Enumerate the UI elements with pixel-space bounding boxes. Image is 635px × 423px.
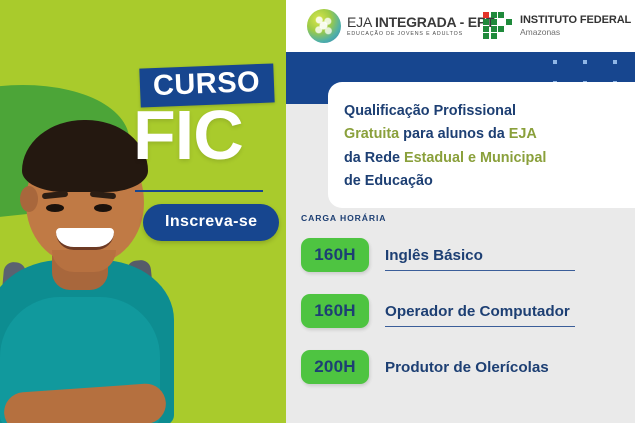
carga-horaria-label: CARGA HORÁRIA — [301, 213, 386, 223]
fic-acronym: FIC — [133, 102, 243, 169]
if-logo-text: INSTITUTO FEDERAL Amazonas — [520, 15, 631, 36]
pixel — [491, 26, 497, 32]
ear — [20, 186, 38, 212]
course-hours-badge: 160H — [301, 294, 369, 328]
desc-line-2: para alunos da — [399, 126, 509, 142]
pixel — [491, 12, 497, 18]
pixel — [498, 12, 504, 18]
eye-right — [94, 204, 112, 212]
description-card: Qualificação Profissional Gratuita para … — [328, 82, 635, 208]
course-row[interactable]: 200H Produtor de Olerícolas — [301, 344, 601, 390]
pixel — [483, 33, 489, 39]
eja-integrada-logo: EJA INTEGRADA - EPT EDUCAÇÃO DE JOVENS E… — [307, 8, 494, 44]
globe-people-icon — [307, 9, 341, 43]
desc-line-1: Qualificação Profissional — [344, 103, 516, 119]
smile — [56, 228, 114, 250]
desc-line-4: de Educação — [344, 173, 433, 189]
pixel — [498, 26, 504, 32]
pixel — [498, 19, 504, 25]
left-green-panel: CURSO FIC Inscreva-se — [0, 0, 286, 423]
pixel — [506, 26, 512, 32]
desc-line-3: da Rede — [344, 150, 404, 166]
if-logo-subtitle: Amazonas — [520, 28, 631, 37]
course-row-divider — [385, 270, 575, 271]
if-logo-title: INSTITUTO FEDERAL — [520, 15, 631, 27]
course-name: Inglês Básico — [385, 247, 483, 264]
headline-divider — [135, 190, 263, 192]
pixel — [483, 19, 489, 25]
eja-title-light: EJA — [347, 14, 375, 30]
eja-logo-subtitle: EDUCAÇÃO DE JOVENS E ADULTOS — [347, 32, 494, 37]
pixel — [491, 19, 497, 25]
pixel — [506, 12, 512, 18]
course-hours-badge: 160H — [301, 238, 369, 272]
pixel — [506, 19, 512, 25]
instituto-federal-logo: INSTITUTO FEDERAL Amazonas — [483, 9, 631, 43]
eja-logo-title: EJA INTEGRADA - EPT — [347, 15, 494, 29]
eja-logo-text: EJA INTEGRADA - EPT EDUCAÇÃO DE JOVENS E… — [347, 15, 494, 37]
course-promo-banner: CURSO FIC Inscreva-se EJA INTEGRADA - EP… — [0, 0, 635, 423]
pixel — [506, 33, 512, 39]
pixel — [483, 12, 489, 18]
pixel — [483, 26, 489, 32]
eja-title-bold: INTEGRADA - EPT — [375, 14, 494, 30]
course-name: Operador de Computador — [385, 303, 570, 320]
course-hours-badge: 200H — [301, 350, 369, 384]
desc-line-2-eja: EJA — [509, 126, 537, 142]
course-row-divider — [385, 326, 575, 327]
eye-left — [46, 204, 64, 212]
desc-line-3-highlight: Estadual e Municipal — [404, 150, 546, 166]
pixel-grid-icon — [483, 12, 513, 40]
dot — [583, 60, 587, 64]
description-text: Qualificação Profissional Gratuita para … — [344, 100, 617, 193]
hair — [22, 120, 148, 192]
dot — [553, 60, 557, 64]
dot — [613, 60, 617, 64]
course-name: Produtor de Olerícolas — [385, 359, 549, 376]
desc-line-2-highlight: Gratuita — [344, 126, 399, 142]
pixel — [491, 33, 497, 39]
enroll-button[interactable]: Inscreva-se — [143, 204, 279, 241]
pixel — [498, 33, 504, 39]
